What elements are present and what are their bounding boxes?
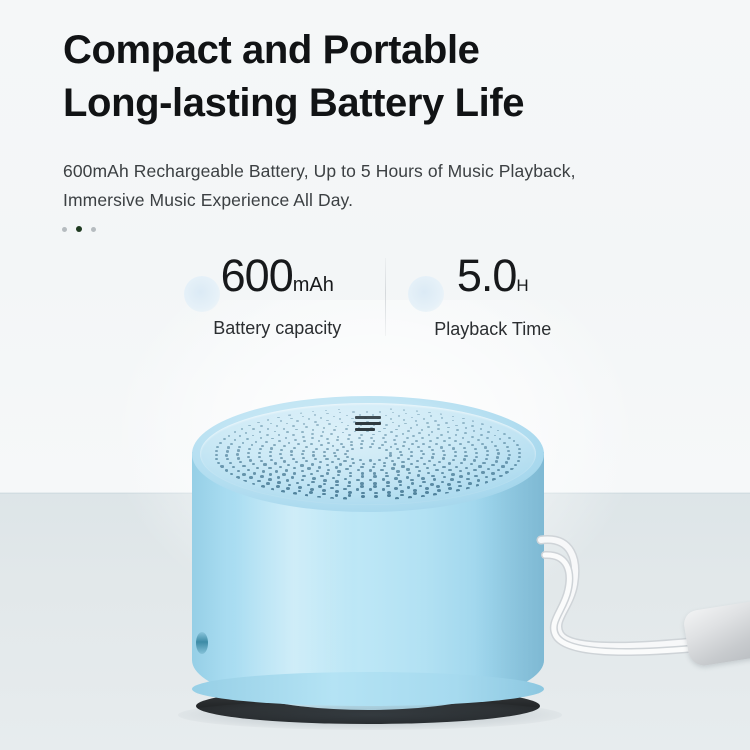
background-horizon-line <box>0 491 750 494</box>
stat-unit-battery: mAh <box>293 274 334 296</box>
stat-unit-playback: H <box>516 276 528 295</box>
stat-accent-blob <box>184 276 220 312</box>
product-banner: Compact and Portable Long-lasting Batter… <box>0 0 750 750</box>
background-lower <box>0 493 750 750</box>
headline-line-2: Long-lasting Battery Life <box>63 77 713 130</box>
subtitle-line-2: Immersive Music Experience All Day. <box>63 186 703 215</box>
pagination-dots[interactable] <box>62 226 96 232</box>
stat-number-playback: 5.0 <box>457 250 517 301</box>
headline: Compact and Portable Long-lasting Batter… <box>63 24 713 130</box>
stat-number-battery: 600 <box>221 250 293 301</box>
stat-battery-capacity: 600mAh Battery capacity <box>170 250 385 339</box>
stat-value-playback: 5.0H <box>457 250 529 312</box>
subtitle: 600mAh Rechargeable Battery, Up to 5 Hou… <box>63 157 703 215</box>
stat-label-battery: Battery capacity <box>213 317 341 339</box>
headline-line-1: Compact and Portable <box>63 28 480 72</box>
subtitle-line-1: 600mAh Rechargeable Battery, Up to 5 Hou… <box>63 161 576 181</box>
spec-stats: 600mAh Battery capacity 5.0H Playback Ti… <box>170 250 600 345</box>
pagination-dot-3[interactable] <box>91 227 96 232</box>
pagination-dot-1[interactable] <box>62 227 67 232</box>
stat-accent-blob <box>408 276 444 312</box>
stat-playback-time: 5.0H Playback Time <box>386 250 601 340</box>
pagination-dot-2-active[interactable] <box>76 226 82 232</box>
stat-label-playback: Playback Time <box>434 318 551 340</box>
stat-value-battery: 600mAh <box>221 250 334 311</box>
